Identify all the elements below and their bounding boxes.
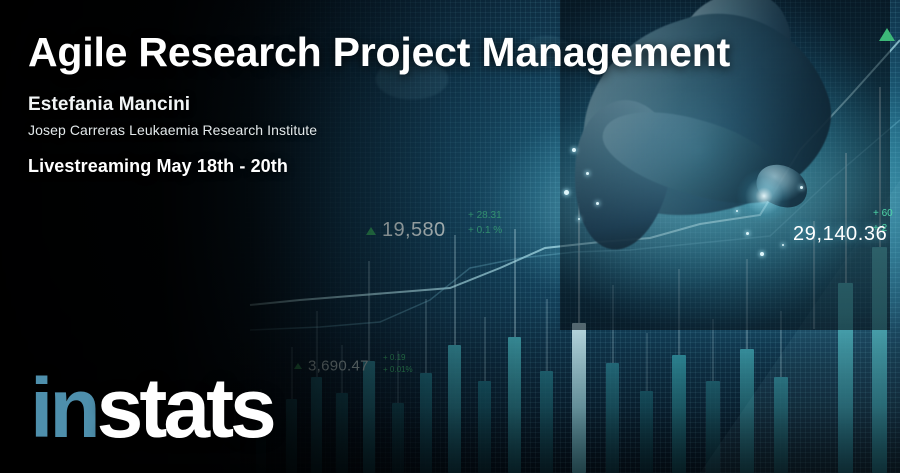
presentation-slide: 19,580 3,690.47 29,140.36 + 0.19 + 0.01%…	[0, 0, 900, 473]
logo-suffix: stats	[97, 361, 273, 455]
speaker-name: Estefania Mancini	[28, 94, 190, 116]
logo-prefix: in	[30, 361, 97, 455]
instats-logo: instats	[30, 366, 273, 450]
speaker-affiliation: Josep Carreras Leukaemia Research Instit…	[28, 122, 317, 138]
livestream-dates: Livestreaming May 18th - 20th	[28, 156, 288, 177]
page-title: Agile Research Project Management	[28, 30, 730, 76]
